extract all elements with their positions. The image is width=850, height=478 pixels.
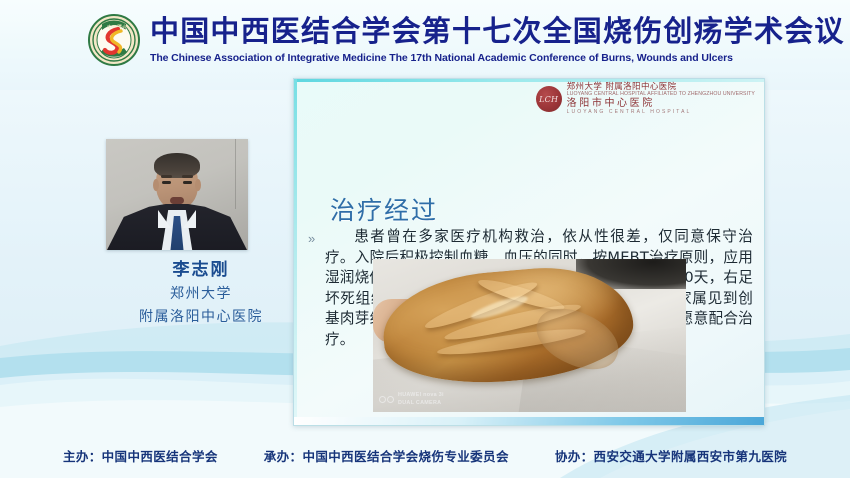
- watermark-mode: DUAL CAMERA: [398, 399, 444, 407]
- conference-broadcast-screen: 中西医 结合 中国中西医结合学会第十七次全国烧伤创疡学术会议 The Chine…: [0, 0, 850, 478]
- hospital-name-cn-primary: 郑州大学 附属洛阳中心医院: [567, 83, 755, 92]
- sponsor-co-organizer: 协办：西安交通大学附属西安市第九医院: [555, 446, 787, 465]
- speaker-collar-left: [158, 210, 171, 228]
- speaker-eye-right: [183, 181, 192, 184]
- slide-accent-top: [294, 79, 765, 82]
- speaker-eye-left: [162, 181, 171, 184]
- sponsor-host: 主办：中国中西医结合学会: [63, 446, 218, 465]
- association-emblem-icon: 中西医 结合: [88, 14, 140, 66]
- hospital-name-en-primary: LUOYANG CENTRAL HOSPITAL AFFILIATED TO Z…: [567, 92, 755, 97]
- hospital-name-cn-secondary: 洛阳市中心医院: [567, 99, 755, 109]
- conference-title-chinese: 中国中西医结合学会第十七次全国烧伤创疡学术会议: [150, 14, 780, 48]
- clinical-photo[interactable]: HUAWEI nova 3i DUAL CAMERA: [373, 259, 686, 412]
- wall-edge-line: [235, 139, 236, 209]
- slide-accent-left: [294, 79, 297, 426]
- hospital-seal-icon: [536, 86, 562, 112]
- speaker-collar-right: [183, 210, 196, 228]
- speaker-affiliation-university: 郑州大学: [106, 282, 296, 305]
- speaker-eyebrow-left: [161, 175, 172, 178]
- conference-header: 中西医 结合 中国中西医结合学会第十七次全国烧伤创疡学术会议 The Chine…: [0, 0, 850, 76]
- slide-title: 治疗经过: [330, 191, 438, 227]
- speaker-video-feed[interactable]: [106, 139, 248, 250]
- presentation-slide[interactable]: 郑州大学 附属洛阳中心医院 LUOYANG CENTRAL HOSPITAL A…: [293, 78, 765, 426]
- dual-camera-icon: [379, 396, 394, 403]
- hospital-logo-text: 郑州大学 附属洛阳中心医院 LUOYANG CENTRAL HOSPITAL A…: [567, 83, 755, 116]
- speaker-ear-left: [153, 179, 159, 191]
- hospital-name-en-secondary: LUOYANG CENTRAL HOSPITAL: [567, 110, 755, 115]
- conference-title-block: 中国中西医结合学会第十七次全国烧伤创疡学术会议 The Chinese Asso…: [150, 14, 780, 65]
- speaker-affiliation-hospital: 附属洛阳中心医院: [106, 305, 296, 328]
- photo-camera-watermark: HUAWEI nova 3i DUAL CAMERA: [379, 391, 444, 407]
- watermark-device: HUAWEI nova 3i: [398, 391, 444, 399]
- speaker-eyebrow-right: [182, 175, 193, 178]
- conference-title-english: The Chinese Association of Integrative M…: [150, 51, 780, 65]
- hospital-logo: 郑州大学 附属洛阳中心医院 LUOYANG CENTRAL HOSPITAL A…: [536, 84, 755, 114]
- sponsor-bar: 主办：中国中西医结合学会 承办：中国中西医结合学会烧伤专业委员会 协办：西安交通…: [0, 432, 850, 478]
- speaker-ear-right: [195, 179, 201, 191]
- speaker-info-block: 李志刚 郑州大学 附属洛阳中心医院: [106, 258, 296, 328]
- slide-bullet-marker: »: [308, 231, 315, 246]
- slide-accent-bottom: [294, 417, 765, 425]
- speaker-mouth: [170, 197, 184, 204]
- speaker-name: 李志刚: [106, 258, 296, 282]
- sponsor-organizer: 承办：中国中西医结合学会烧伤专业委员会: [264, 446, 509, 465]
